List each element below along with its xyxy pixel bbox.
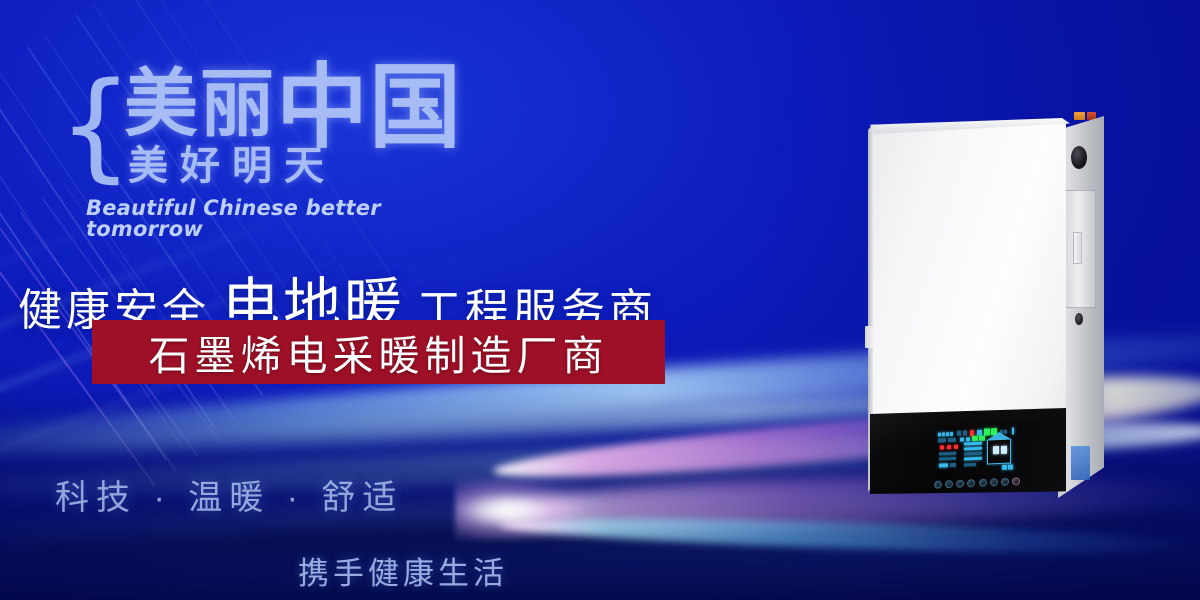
product-side-vent-hole (1075, 313, 1083, 325)
product-left-tab (865, 326, 874, 348)
logo-word-meili: 美丽 (124, 62, 276, 145)
control-button-reset[interactable] (1012, 477, 1020, 485)
control-button-mode[interactable] (945, 480, 953, 488)
control-button-set[interactable] (990, 478, 998, 486)
tagline-primary: 科技 · 温暖 · 舒适 (55, 470, 403, 519)
logo-headline-cn: 美丽中国 (124, 62, 462, 154)
control-button-confirm[interactable] (1001, 478, 1009, 486)
promo-banner: { 美丽中国 美好明天 Beautiful Chinese better tom… (0, 0, 1200, 600)
control-button-clock[interactable] (979, 479, 987, 487)
brand-logo: { 美丽中国 美好明天 Beautiful Chinese better tom… (58, 58, 478, 223)
control-button-up[interactable] (956, 480, 964, 488)
control-button-down[interactable] (967, 479, 975, 487)
product-electric-boiler (862, 108, 1162, 508)
lcd-control-display (938, 426, 1014, 477)
tagline-secondary: 携手健康生活 (298, 548, 508, 593)
product-exhaust-port (1071, 146, 1087, 169)
product-side-label (1071, 446, 1090, 480)
lcd-house-icon (987, 440, 1011, 465)
top-connector-orange (1074, 112, 1085, 120)
red-subtitle-banner: 石墨烯电采暖制造厂商 (92, 320, 665, 384)
logo-subline-cn: 美好明天 (128, 146, 336, 186)
product-side-latch (1073, 232, 1082, 264)
control-button-power[interactable] (934, 480, 942, 488)
logo-brace-glyph: { (58, 66, 133, 184)
red-banner-text: 石墨烯电采暖制造厂商 (149, 322, 609, 382)
light-hotspot (455, 478, 585, 540)
top-connector-red (1087, 112, 1096, 120)
logo-english-tagline: Beautiful Chinese better tomorrow (86, 198, 478, 240)
